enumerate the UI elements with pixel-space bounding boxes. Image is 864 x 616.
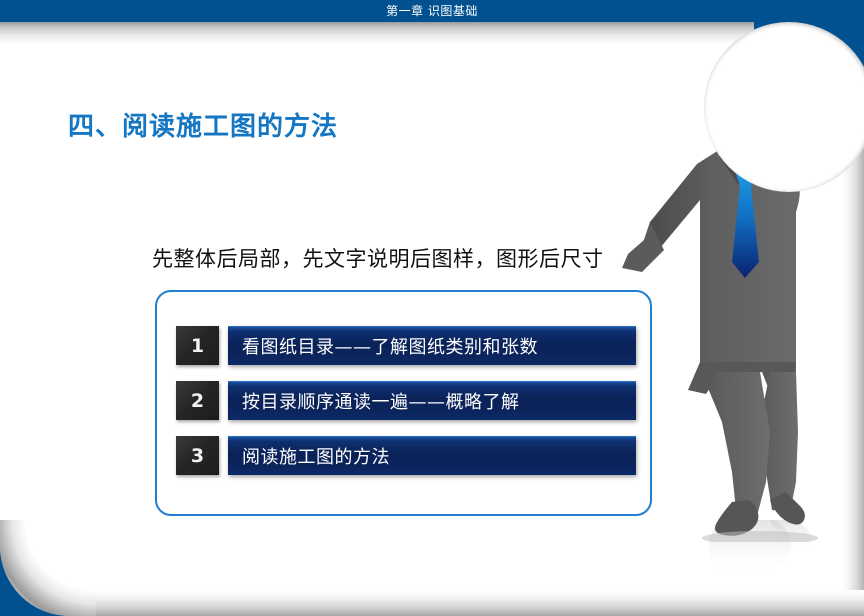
page-title: 四、阅读施工图的方法	[68, 106, 338, 143]
step-number-badge: 2	[176, 381, 219, 420]
chapter-label: 第一章 识图基础	[0, 0, 864, 22]
step-label-bar: 按目录顺序通读一遍——概略了解	[228, 381, 636, 420]
step-number-badge: 1	[176, 326, 219, 365]
sheet-right-shadow	[842, 22, 864, 616]
list-item[interactable]: 1 看图纸目录——了解图纸类别和张数	[176, 326, 636, 365]
step-number-badge: 3	[176, 436, 219, 475]
step-label-bar: 看图纸目录——了解图纸类别和张数	[228, 326, 636, 365]
step-label-bar: 阅读施工图的方法	[228, 436, 636, 475]
steps-list: 1 看图纸目录——了解图纸类别和张数 2 按目录顺序通读一遍——概略了解 3 阅…	[176, 326, 636, 475]
sheet-bottom-shadow	[0, 590, 864, 616]
subtitle-text: 先整体后局部，先文字说明后图样，图形后尺寸	[152, 243, 604, 273]
slide-header-bar: 第一章 识图基础	[0, 0, 864, 22]
sheet-bottom-left-corner	[0, 520, 96, 616]
list-item[interactable]: 3 阅读施工图的方法	[176, 436, 636, 475]
sheet-top-shadow	[0, 22, 864, 44]
slide: 第一章 识图基础 四、阅读施工图的方法 先整体后局部，先文字说明后图样，图形后尺…	[0, 0, 864, 616]
list-item[interactable]: 2 按目录顺序通读一遍——概略了解	[176, 381, 636, 420]
